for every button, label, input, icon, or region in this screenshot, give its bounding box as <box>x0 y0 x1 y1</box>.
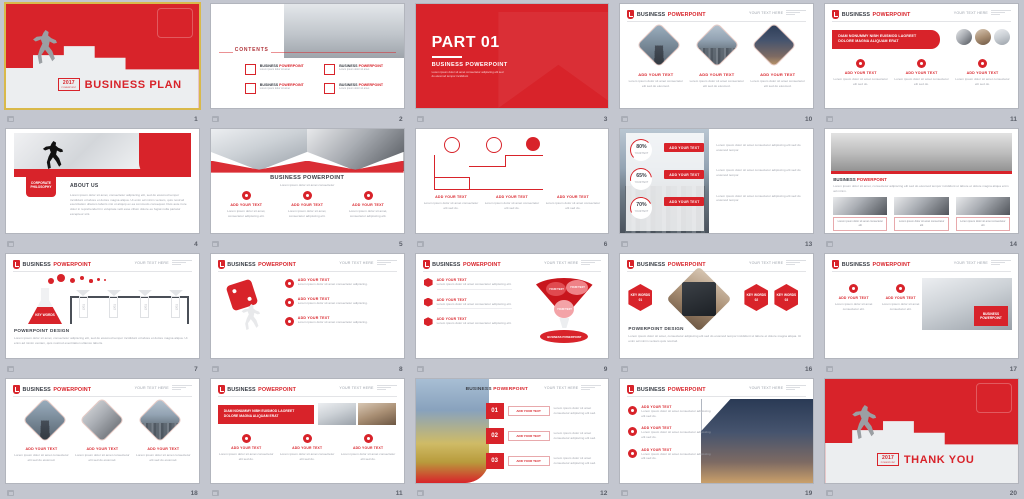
list-item[interactable]: ADD YOUR TEXTLorem ipsum dolor sit amet … <box>424 317 520 326</box>
step-number: 01 <box>486 403 504 419</box>
slide-type-icon <box>621 241 628 247</box>
slide-cell-13[interactable]: 80%YOUR TEXT 65%YOUR TEXT 70%YOUR TEXT A… <box>614 125 819 250</box>
slide-heading: POWERPOINT DESIGN <box>14 328 69 333</box>
slide-14[interactable]: BUSINESS POWERPOINT Lorem ipsum dolor si… <box>825 129 1018 233</box>
slide-title: BUSINESS POWERPOINT <box>466 387 528 392</box>
stat-column: 80%YOUR TEXT 65%YOUR TEXT 70%YOUR TEXT <box>630 139 652 219</box>
bullet-icon <box>303 191 312 200</box>
donut-chart: 80%YOUR TEXT <box>630 139 652 161</box>
bullet-icon <box>917 59 926 68</box>
diamond-photo[interactable] <box>696 24 738 66</box>
shield-icon <box>832 10 839 19</box>
bullet-icon <box>303 434 312 443</box>
bullet-icon <box>628 449 637 458</box>
bullet-icon <box>856 59 865 68</box>
list-item[interactable]: ADD YOUR TEXTLorem ipsum dolor sit amet … <box>628 405 714 418</box>
decor-rect <box>976 383 1012 413</box>
bullet-icon <box>978 59 987 68</box>
slide-8[interactable]: BUSINESS POWERPOINT YOUR TEXT HERE ADD Y… <box>211 254 404 358</box>
photo-card[interactable]: Lorem ipsum dolor sit amet consectetur e… <box>833 197 887 231</box>
slide-cell-17[interactable]: BUSINESS POWERPOINT YOUR TEXT HERE BUSIN… <box>819 250 1024 375</box>
bridge-photo <box>831 133 1012 171</box>
shield-icon <box>423 260 430 269</box>
slide-header: BUSINESS POWERPOINT <box>218 385 296 394</box>
menu-lines-icon <box>991 10 1011 15</box>
slide-header: BUSINESS POWERPOINT <box>832 260 910 269</box>
slide-cell-16[interactable]: BUSINESS POWERPOINT YOUR TEXT HERE KEY W… <box>614 250 819 375</box>
slide-header: BUSINESS POWERPOINT <box>13 385 91 394</box>
slide-11b[interactable]: BUSINESS POWERPOINT YOUR TEXT HERE DIAM … <box>211 379 404 483</box>
shield-icon <box>627 10 634 19</box>
page-number: 11 <box>396 490 403 497</box>
slide-header: BUSINESS POWERPOINT <box>627 260 705 269</box>
list-item[interactable]: BUSINESS POWERPOINT Lorem ipsum dolor si… <box>245 83 310 94</box>
header-right: YOUR TEXT HERE <box>135 385 192 390</box>
menu-lines-icon <box>172 385 192 390</box>
diamond-photo[interactable] <box>139 399 181 441</box>
slide-desc: Lorem ipsum dolor sit amet, consectetur … <box>14 336 191 345</box>
part-subtitle: BUSINESS POWERPOINT <box>432 62 508 68</box>
bullet-icon <box>896 284 905 293</box>
header-right: YOUR TEXT HERE <box>749 385 806 390</box>
slide-cell-14[interactable]: BUSINESS POWERPOINT Lorem ipsum dolor si… <box>819 125 1024 250</box>
bullet-icon <box>242 434 251 443</box>
list-item[interactable]: ADD YOUR TEXTLorem ipsum dolor sit amet … <box>628 448 714 461</box>
slide-header: BUSINESS POWERPOINT <box>423 260 501 269</box>
slide-header: BUSINESS POWERPOINT <box>627 10 705 19</box>
slide-header: BUSINESS POWERPOINT <box>218 260 296 269</box>
slide-cell-5[interactable]: BUSINESS POWERPOINT Lorem ipsum dolor si… <box>205 125 410 250</box>
bullet-list: ADD YOUR TEXTLorem ipsum dolor sit amet … <box>628 405 714 461</box>
header-right: YOUR TEXT HERE <box>544 260 601 265</box>
list-item[interactable]: 03 ADD YOUR TEXT Lorem ipsum dolor sit a… <box>486 453 603 469</box>
header-right: YOUR TEXT HERE <box>749 10 806 15</box>
menu-lines-icon <box>172 260 192 265</box>
page-number: 20 <box>1010 490 1017 497</box>
diamond-photo[interactable] <box>638 24 680 66</box>
caption-row: ADD YOUR TEXTLorem ipsum dolor sit amet … <box>14 447 191 462</box>
slide-type-icon <box>7 241 14 247</box>
tube: TEXT <box>107 290 121 318</box>
shield-icon <box>13 260 20 269</box>
red-banner: DIAM NONUMMY NIBH EUISMOD LAOREET DOLORE… <box>832 30 940 49</box>
slide-cell-2[interactable]: CONTENTS BUSINESS POWERPOINT Lorem ipsum… <box>205 0 410 125</box>
bubble-trail <box>48 274 118 288</box>
slide-type-icon <box>621 366 628 372</box>
page-number: 5 <box>399 241 403 248</box>
philosophy-tab: CORPORATE PHILOSOPHY <box>26 173 56 197</box>
part-title: PART 01 <box>432 34 500 52</box>
slide-type-icon <box>417 241 424 247</box>
menu-lines-icon <box>786 260 806 265</box>
shield-icon <box>218 260 225 269</box>
slide-heading: POWERPOINT DESIGN <box>628 326 683 331</box>
add-text-button[interactable]: ADD YOUR TEXT <box>664 197 704 206</box>
slide-6[interactable]: ADD YOUR TEXTLorem ipsum dolor sit amet … <box>416 129 609 233</box>
slide-1[interactable]: 2017POWERPOINT BUSINESS PLAN <box>6 4 199 108</box>
slide-cell-8[interactable]: BUSINESS POWERPOINT YOUR TEXT HERE ADD Y… <box>205 250 410 375</box>
list-item[interactable]: ADD YOUR TEXTLorem ipsum dolor sit amet … <box>628 426 714 439</box>
year-badge: 2017POWERPOINT <box>877 453 899 466</box>
menu-lines-icon <box>581 260 601 265</box>
page-number: 13 <box>805 241 812 248</box>
bullet-icon <box>364 434 373 443</box>
slide-cell-4[interactable]: CORPORATE PHILOSOPHY ABOUT US Lorem ipsu… <box>0 125 205 250</box>
bullet-icon <box>849 284 858 293</box>
slide-desc: Lorem ipsum dolor sit amet, consectetur … <box>833 184 1010 193</box>
slide-4[interactable]: CORPORATE PHILOSOPHY ABOUT US Lorem ipsu… <box>6 129 199 233</box>
button-column: ADD YOUR TEXT ADD YOUR TEXT ADD YOUR TEX… <box>664 143 704 206</box>
mountain-photo <box>416 379 489 483</box>
slide-3[interactable]: PART 01 BUSINESS POWERPOINT Lorem ipsum … <box>416 4 609 108</box>
diamond-photo[interactable] <box>24 399 66 441</box>
flask-shape: KEY WORDS <box>28 288 62 324</box>
part-desc: Lorem ipsum dolor sit amet consectetur a… <box>432 70 504 78</box>
page-number: 12 <box>600 490 607 497</box>
contents-list: BUSINESS POWERPOINT Lorem ipsum dolor si… <box>245 64 390 94</box>
slide-cell-9[interactable]: BUSINESS POWERPOINT YOUR TEXT HERE ADD Y… <box>410 250 615 375</box>
slide-7[interactable]: BUSINESS POWERPOINT YOUR TEXT HERE KEY W… <box>6 254 199 358</box>
slide-cell-20[interactable]: 2017POWERPOINT THANK YOU 20 <box>819 375 1024 499</box>
slide-type-icon <box>826 366 833 372</box>
red-banner: DIAM NONUMMY NIBH EUISMOD LAOREET DOLORE… <box>218 405 314 424</box>
slide-19[interactable]: BUSINESS POWERPOINT YOUR TEXT HERE ADD Y… <box>620 379 813 483</box>
slide-type-icon <box>212 116 219 122</box>
card-row: ADD YOUR TEXTLorem ipsum dolor sit amet … <box>833 59 1010 86</box>
bullet-icon <box>628 406 637 415</box>
circle-photo-row <box>956 29 1010 45</box>
slide-9[interactable]: BUSINESS POWERPOINT YOUR TEXT HERE ADD Y… <box>416 254 609 358</box>
donut-chart: 70%YOUR TEXT <box>630 197 652 219</box>
step-number: 03 <box>486 453 504 469</box>
diamond-photo[interactable] <box>81 399 123 441</box>
menu-lines-icon <box>786 385 806 390</box>
page-number: 17 <box>1010 366 1017 373</box>
caption-row: ADD YOUR TEXTLorem ipsum dolor sit amet … <box>628 72 805 88</box>
header-right: YOUR TEXT HERE <box>954 10 1011 15</box>
tube: TEXT <box>138 290 152 318</box>
doc-icon <box>245 64 256 75</box>
slide-title: BUSINESS PLAN <box>85 79 182 91</box>
envelope-decor <box>498 12 608 108</box>
page-number: 11 <box>1010 116 1017 123</box>
slide-11[interactable]: BUSINESS POWERPOINT YOUR TEXT HERE DIAM … <box>825 4 1018 108</box>
page-number: 9 <box>604 366 608 373</box>
step-caption-row: ADD YOUR TEXTLorem ipsum dolor sit amet … <box>424 195 601 210</box>
slide-desc: Lorem ipsum dolor sit amet, consectetur … <box>628 334 805 343</box>
list-item[interactable]: 01 ADD YOUR TEXT Lorem ipsum dolor sit a… <box>486 403 603 419</box>
slide-type-icon <box>826 490 833 496</box>
slide-20[interactable]: 2017POWERPOINT THANK YOU <box>825 379 1018 483</box>
doc-icon <box>245 83 256 94</box>
about-heading: ABOUT US <box>70 183 189 189</box>
hex-bullet-icon <box>424 298 433 307</box>
header-right: YOUR TEXT HERE <box>749 260 806 265</box>
card-row: ADD YOUR TEXTLorem ipsum dolor sit amet,… <box>219 191 396 218</box>
contents-title: CONTENTS <box>233 47 271 53</box>
header-right: YOUR TEXT HERE <box>339 260 396 265</box>
header-right: YOUR TEXT HERE <box>544 385 601 390</box>
doc-icon <box>324 64 335 75</box>
decor-rect <box>157 8 193 38</box>
slide-title: BUSINESS POWERPOINT <box>833 177 887 182</box>
bullet-icon <box>285 298 294 307</box>
slide-12[interactable]: BUSINESS POWERPOINT YOUR TEXT HERE 01 AD… <box>416 379 609 483</box>
hex-bullet-icon <box>424 278 433 287</box>
slide-10[interactable]: BUSINESS POWERPOINT YOUR TEXT HERE ADD Y… <box>620 4 813 108</box>
list-item[interactable]: ADD YOUR TEXTLorem ipsum dolor sit amet … <box>285 297 396 307</box>
slide-header: BUSINESS POWERPOINT <box>832 10 910 19</box>
photo-card[interactable]: Lorem ipsum dolor sit amet consectetur e… <box>956 197 1010 231</box>
slide-type-icon <box>7 366 14 372</box>
slide-header: BUSINESS POWERPOINT <box>13 260 91 269</box>
diamond-row <box>16 405 189 435</box>
card-row: ADD YOUR TEXT Lorem ipsum dolor sit amet… <box>833 284 921 311</box>
page-number: 3 <box>604 116 608 123</box>
add-text-button[interactable]: ADD YOUR TEXT <box>664 143 704 152</box>
bullet-icon <box>628 427 637 436</box>
slide-cell-7[interactable]: BUSINESS POWERPOINT YOUR TEXT HERE KEY W… <box>0 250 205 375</box>
hexagon[interactable]: KEY WORDS 01 <box>628 284 652 311</box>
slide-16[interactable]: BUSINESS POWERPOINT YOUR TEXT HERE KEY W… <box>620 254 813 358</box>
photo <box>318 403 356 425</box>
slide-13[interactable]: 80%YOUR TEXT 65%YOUR TEXT 70%YOUR TEXT A… <box>620 129 813 233</box>
about-body: Lorem ipsum dolor sit amet, consectetur … <box>70 193 189 216</box>
bridge-photo <box>284 4 404 58</box>
shield-icon <box>832 260 839 269</box>
photo-card[interactable]: Lorem ipsum dolor sit amet consectetur e… <box>894 197 948 231</box>
bullet-icon <box>364 191 373 200</box>
slide-type-icon <box>212 241 219 247</box>
slide-title: THANK YOU <box>904 454 975 466</box>
card[interactable]: ADD YOUR TEXT Lorem ipsum dolor sit amet… <box>833 284 874 311</box>
stairs-outline <box>434 155 543 190</box>
hex-bullet-icon <box>424 317 433 326</box>
menu-lines-icon <box>377 385 397 390</box>
slide-cell-6[interactable]: ADD YOUR TEXTLorem ipsum dolor sit amet … <box>410 125 615 250</box>
slide-type-icon <box>212 366 219 372</box>
slide-type-icon <box>826 116 833 122</box>
slide-type-icon <box>7 490 14 496</box>
page-number: 10 <box>805 116 812 123</box>
page-number: 19 <box>805 490 812 497</box>
slide-title-block: BUSINESS POWERPOINT Lorem ipsum dolor si… <box>211 175 404 188</box>
card[interactable]: ADD YOUR TEXT Lorem ipsum dolor sit amet… <box>880 284 921 311</box>
slide-type-icon <box>621 490 628 496</box>
page-number: 16 <box>805 366 812 373</box>
red-label: BUSINESS POWERPOINT <box>974 306 1008 326</box>
list-item[interactable]: ADD YOUR TEXTLorem ipsum dolor sit amet … <box>424 298 520 310</box>
shield-icon <box>218 385 225 394</box>
menu-lines-icon <box>581 385 601 390</box>
circle-photo[interactable] <box>956 29 972 45</box>
slide-5[interactable]: BUSINESS POWERPOINT Lorem ipsum dolor si… <box>211 129 404 233</box>
slide-cell-10[interactable]: BUSINESS POWERPOINT YOUR TEXT HERE ADD Y… <box>614 0 819 125</box>
underline <box>432 56 462 58</box>
hexagon[interactable]: KEY WORDS 03 <box>774 284 798 311</box>
diamond-photo[interactable] <box>753 24 795 66</box>
funnel-diagram: YOUR TEXT YOUR TEXT YOUR TEXT BUSINESS P… <box>530 278 598 348</box>
diamond-row <box>630 30 803 60</box>
slide-cell-3[interactable]: PART 01 BUSINESS POWERPOINT Lorem ipsum … <box>410 0 615 125</box>
shield-icon <box>13 385 20 394</box>
hexagon[interactable]: KEY WORDS 02 <box>744 284 768 311</box>
red-rule <box>831 171 1012 174</box>
circle-photo[interactable] <box>994 29 1010 45</box>
slide-type-icon <box>7 116 14 122</box>
photo-card-row: Lorem ipsum dolor sit amet consectetur e… <box>833 197 1010 231</box>
list-item[interactable]: BUSINESS POWERPOINT Lorem ipsum dolor si… <box>324 83 389 94</box>
bullet-list: ADD YOUR TEXTLorem ipsum dolor sit amet … <box>285 278 396 326</box>
tube-rack: TEXT TEXT TEXT TEXT <box>70 290 189 324</box>
photo <box>358 403 396 425</box>
slide-18[interactable]: BUSINESS POWERPOINT YOUR TEXT HERE ADD Y… <box>6 379 199 483</box>
slide-cell-19[interactable]: BUSINESS POWERPOINT YOUR TEXT HERE ADD Y… <box>614 375 819 499</box>
slide-cell-11b[interactable]: BUSINESS POWERPOINT YOUR TEXT HERE DIAM … <box>205 375 410 499</box>
slide-type-icon <box>826 241 833 247</box>
page-number: 4 <box>194 241 198 248</box>
slide-type-icon <box>212 490 219 496</box>
header-right: YOUR TEXT HERE <box>339 385 396 390</box>
tube: TEXT <box>76 290 90 318</box>
bullet-icon <box>285 279 294 288</box>
list-item[interactable]: ADD YOUR TEXTLorem ipsum dolor sit amet … <box>424 278 520 290</box>
add-text-button[interactable]: ADD YOUR TEXT <box>664 170 704 179</box>
shield-icon <box>627 385 634 394</box>
slide-cell-1[interactable]: 2017POWERPOINT BUSINESS PLAN 1 <box>0 0 205 125</box>
slide-type-icon <box>417 490 424 496</box>
slide-thumbnail-gallery: 2017POWERPOINT BUSINESS PLAN 1 CONTENTS … <box>0 0 1024 499</box>
list-item[interactable]: BUSINESS POWERPOINT Lorem ipsum dolor si… <box>245 64 310 75</box>
page-number: 18 <box>191 490 198 497</box>
slide-2[interactable]: CONTENTS BUSINESS POWERPOINT Lorem ipsum… <box>211 4 404 108</box>
card-row: ADD YOUR TEXTLorem ipsum dolor sit amet … <box>219 434 396 461</box>
slide-type-icon <box>621 116 628 122</box>
tube: TEXT <box>169 290 183 318</box>
bullet-list: ADD YOUR TEXTLorem ipsum dolor sit amet … <box>424 278 520 326</box>
circle-photo[interactable] <box>975 29 991 45</box>
bullet-icon <box>285 317 294 326</box>
menu-lines-icon <box>991 260 1011 265</box>
numbered-list: 01 ADD YOUR TEXT Lorem ipsum dolor sit a… <box>486 403 603 469</box>
step-number: 02 <box>486 428 504 444</box>
list-item[interactable]: ADD YOUR TEXTLorem ipsum dolor sit amet … <box>285 278 396 288</box>
list-item[interactable]: BUSINESS POWERPOINT Lorem ipsum dolor si… <box>324 64 389 75</box>
slide-cell-18[interactable]: BUSINESS POWERPOINT YOUR TEXT HERE ADD Y… <box>0 375 205 499</box>
bullet-icon <box>242 191 251 200</box>
page-number: 6 <box>604 241 608 248</box>
slide-17[interactable]: BUSINESS POWERPOINT YOUR TEXT HERE BUSIN… <box>825 254 1018 358</box>
step-circle-icon <box>486 137 502 153</box>
page-number: 7 <box>194 366 198 373</box>
donut-chart: 65%YOUR TEXT <box>630 168 652 190</box>
camera-photo <box>667 266 732 331</box>
header-right: YOUR TEXT HERE <box>954 260 1011 265</box>
slide-cell-11[interactable]: BUSINESS POWERPOINT YOUR TEXT HERE DIAM … <box>819 0 1024 125</box>
shield-icon <box>627 260 634 269</box>
list-item[interactable]: ADD YOUR TEXTLorem ipsum dolor sit amet … <box>285 316 396 326</box>
slide-header: BUSINESS POWERPOINT <box>627 385 705 394</box>
slide-type-icon <box>417 116 424 122</box>
page-number: 1 <box>194 116 198 123</box>
doc-icon <box>324 83 335 94</box>
header-right: YOUR TEXT HERE <box>135 260 192 265</box>
slide-cell-12[interactable]: BUSINESS POWERPOINT YOUR TEXT HERE 01 AD… <box>410 375 615 499</box>
page-number: 2 <box>399 116 403 123</box>
year-badge: 2017POWERPOINT <box>58 78 80 91</box>
hexagon-row: KEY WORDS 02 KEY WORDS 03 <box>744 284 798 311</box>
description-column: Lorem ipsum dolor sit amet consectetur a… <box>716 143 805 203</box>
step-circle-icon <box>526 137 540 151</box>
menu-lines-icon <box>786 10 806 15</box>
slide-type-icon <box>417 366 424 372</box>
page-number: 14 <box>1010 241 1017 248</box>
page-number: 8 <box>399 366 403 373</box>
step-circle-icon <box>444 137 460 153</box>
list-item[interactable]: 02 ADD YOUR TEXT Lorem ipsum dolor sit a… <box>486 428 603 444</box>
menu-lines-icon <box>377 260 397 265</box>
